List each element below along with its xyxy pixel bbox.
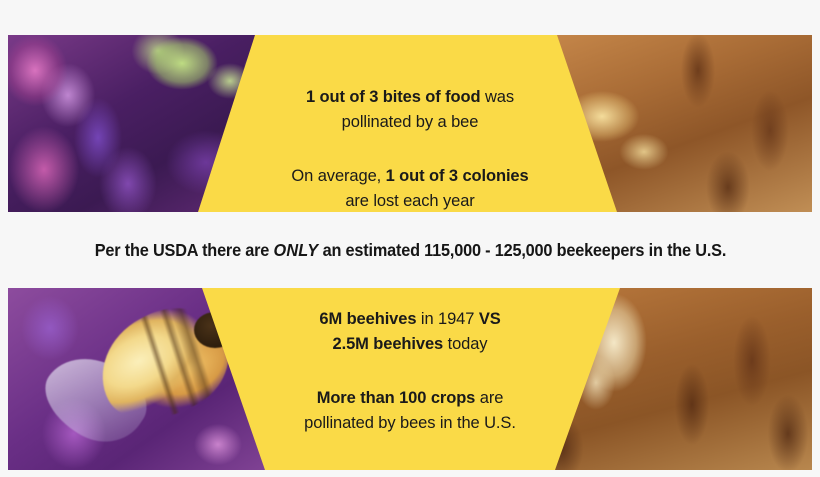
bottom-yellow-callout-shape <box>8 288 812 470</box>
top-yellow-callout-shape <box>8 35 812 212</box>
usda-statement-band: Per the USDA there are ONLY an estimated… <box>8 212 812 288</box>
usda-statement-text: Per the USDA there are ONLY an estimated… <box>94 240 725 261</box>
bee-infographic: 1 out of 3 bites of food was pollinated … <box>0 0 820 477</box>
top-infographic-panel: 1 out of 3 bites of food was pollinated … <box>8 35 812 212</box>
usda-emphasis-only: ONLY <box>273 240 318 260</box>
bottom-infographic-panel: 6M beehives in 1947 VS 2.5M beehives tod… <box>8 288 812 470</box>
usda-prefix: Per the USDA there are <box>94 240 273 260</box>
usda-suffix: an estimated 115,000 - 125,000 beekeeper… <box>318 240 726 260</box>
